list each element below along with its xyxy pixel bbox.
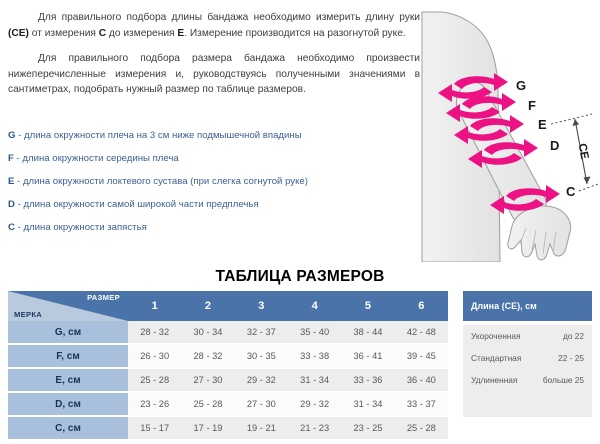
intro-paragraph-2: Для правильного подбора размера бандажа … [8,51,420,98]
legend-key-f: F [8,153,14,164]
cell-f-3: 30 - 35 [235,344,288,368]
legend-item-d: D - длина окружности самой широкой части… [8,199,420,222]
legend-key-g: G [8,130,15,141]
list-item: Укороченная до 22 [463,325,592,347]
table-row: G, см 28 - 32 30 - 34 32 - 37 35 - 40 38… [8,321,448,344]
table-row: C, см 15 - 17 17 - 19 19 - 21 21 - 23 23… [8,416,448,440]
legend-item-c: C - длина окружности запястья [8,222,420,245]
row-label-e: E, см [8,368,128,392]
intro-p1-seg3: до измерения [106,28,177,39]
cell-c-2: 17 - 19 [181,416,234,440]
legend-item-g: G - длина окружности плеча на 3 см ниже … [8,130,420,153]
table-row: D, см 23 - 26 25 - 28 27 - 30 29 - 32 31… [8,392,448,416]
list-item: Удлиненная больше 25 [463,369,592,391]
column-header-6: 6 [395,291,448,321]
length-value-short: до 22 [528,325,593,347]
table-row: F, см 26 - 30 28 - 32 30 - 35 33 - 38 36… [8,344,448,368]
row-label-g: G, см [8,321,128,344]
intro-p1-bold-c: C [99,28,106,39]
cell-d-1: 23 - 26 [128,392,181,416]
intro-p1-seg4: . Измерение производится на разогнутой р… [184,28,406,39]
length-header-row: Длина (CE), см [463,291,592,321]
column-header-4: 4 [288,291,341,321]
cell-e-5: 33 - 36 [341,368,394,392]
cell-g-4: 35 - 40 [288,321,341,344]
cell-c-3: 19 - 21 [235,416,288,440]
legend-text-d: - длина окружности самой широкой части п… [18,199,259,210]
figure-label-f: F [528,98,536,113]
instructions-section: Для правильного подбора длины бандажа не… [0,0,600,262]
table-row: E, см 25 - 28 27 - 30 29 - 32 31 - 34 33… [8,368,448,392]
legend-key-d: D [8,199,15,210]
length-chart-table: Длина (CE), см Укороченная до 22 Стандар… [463,291,592,417]
cell-c-4: 21 - 23 [288,416,341,440]
cell-g-6: 42 - 48 [395,321,448,344]
corner-size-label: РАЗМЕР [87,293,120,302]
column-header-5: 5 [341,291,394,321]
measurement-legend: G - длина окружности плеча на 3 см ниже … [8,130,420,245]
cell-d-3: 27 - 30 [235,392,288,416]
length-value-long: больше 25 [528,369,593,391]
length-filler-row [463,391,592,417]
column-header-1: 1 [128,291,181,321]
cell-d-6: 33 - 37 [395,392,448,416]
page-title: ТАБЛИЦА РАЗМЕРОВ [0,268,600,286]
row-label-f: F, см [8,344,128,368]
size-table-header-row: РАЗМЕР МЕРКА 1 2 3 4 5 6 [8,291,448,321]
cell-e-3: 29 - 32 [235,368,288,392]
intro-text-column: Для правильного подбора длины бандажа не… [8,10,420,108]
legend-key-c: C [8,222,15,233]
cell-d-5: 31 - 34 [341,392,394,416]
figure-label-c: C [566,184,576,199]
cell-f-2: 28 - 32 [181,344,234,368]
length-name-long: Удлиненная [463,369,528,391]
list-item: Стандартная 22 - 25 [463,347,592,369]
ce-leader-top [551,114,592,124]
ce-dimension-label: CE [576,142,591,160]
legend-text-e: - длина окружности локтевого сустава (пр… [17,176,308,187]
cell-g-3: 32 - 37 [235,321,288,344]
intro-paragraph-1: Для правильного подбора длины бандажа не… [8,10,420,41]
cell-d-4: 29 - 32 [288,392,341,416]
cell-f-1: 26 - 30 [128,344,181,368]
size-chart-table: РАЗМЕР МЕРКА 1 2 3 4 5 6 G, см 28 - 32 3… [8,291,448,441]
intro-p1-seg1: Для правильного подбора длины бандажа не… [38,12,420,23]
cell-g-1: 28 - 32 [128,321,181,344]
cell-c-5: 23 - 25 [341,416,394,440]
corner-header-cell: РАЗМЕР МЕРКА [8,291,128,321]
cell-d-2: 25 - 28 [181,392,234,416]
cell-c-1: 15 - 17 [128,416,181,440]
cell-g-5: 38 - 44 [341,321,394,344]
cell-e-4: 31 - 34 [288,368,341,392]
intro-p1-bold-ce: (CE) [8,28,29,39]
figure-label-g: G [516,78,526,93]
cell-f-4: 33 - 38 [288,344,341,368]
intro-p1-seg2: от измерения [29,28,99,39]
legend-text-c: - длина окружности запястья [18,222,147,233]
length-value-standard: 22 - 25 [528,347,593,369]
figure-label-d: D [550,138,559,153]
row-label-d: D, см [8,392,128,416]
arm-measurement-diagram: G F E D C CE [420,0,600,262]
length-name-short: Укороченная [463,325,528,347]
legend-item-f: F - длина окружности середины плеча [8,153,420,176]
cell-e-1: 25 - 28 [128,368,181,392]
row-label-c: C, см [8,416,128,440]
length-filler-cell [463,391,592,417]
cell-c-6: 25 - 28 [395,416,448,440]
cell-e-6: 36 - 40 [395,368,448,392]
length-table-header: Длина (CE), см [463,291,592,321]
column-header-2: 2 [181,291,234,321]
column-header-3: 3 [235,291,288,321]
legend-text-f: - длина окружности середины плеча [17,153,179,164]
cell-g-2: 30 - 34 [181,321,234,344]
length-name-standard: Стандартная [463,347,528,369]
cell-f-6: 39 - 45 [395,344,448,368]
legend-item-e: E - длина окружности локтевого сустава (… [8,176,420,199]
ce-leader-bottom [579,184,598,191]
corner-measure-label: МЕРКА [14,310,42,319]
legend-text-g: - длина окружности плеча на 3 см ниже по… [18,130,301,141]
figure-label-e: E [538,117,547,132]
legend-key-e: E [8,176,14,187]
cell-e-2: 27 - 30 [181,368,234,392]
cell-f-5: 36 - 41 [341,344,394,368]
